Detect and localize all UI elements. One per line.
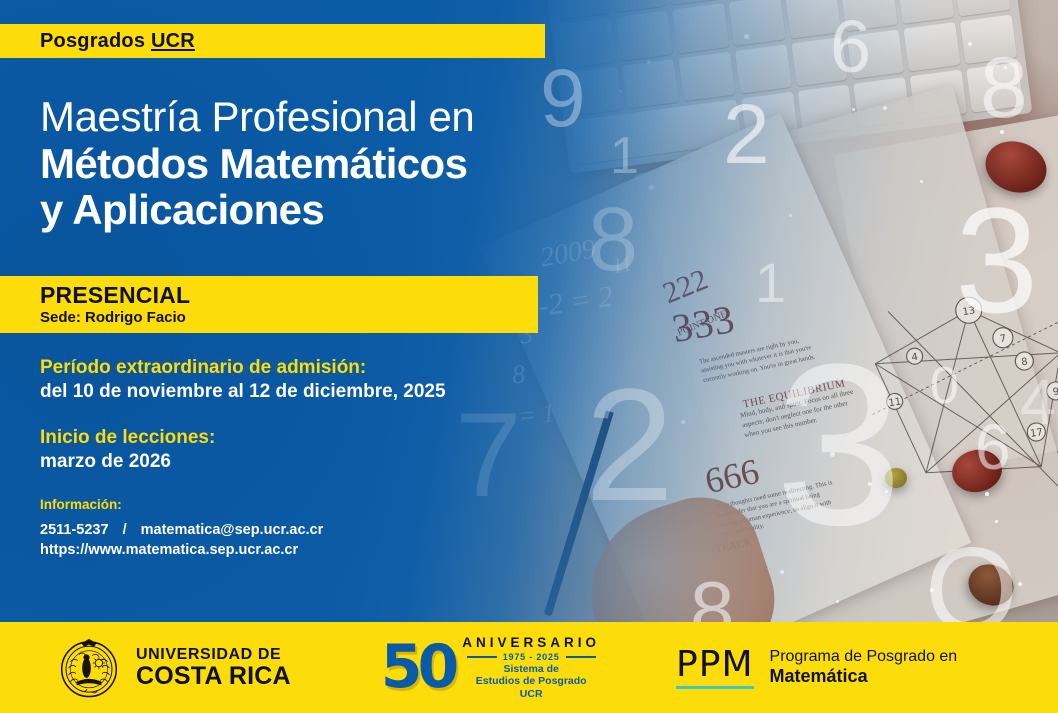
ucr-line-2: COSTA RICA bbox=[136, 664, 291, 689]
anniversary-number: 50 bbox=[381, 643, 455, 692]
sep-line-1: Sistema de bbox=[462, 663, 600, 675]
anniversary-logo: 50 ANIVERSARIO 1975 - 2025 Sistema de Es… bbox=[381, 635, 600, 700]
admission-period-label: Período extraordinario de admisión: bbox=[40, 356, 600, 380]
contact-email[interactable]: matematica@sep.ucr.ac.cr bbox=[141, 522, 324, 538]
contact-block: Información: 2511-5237 / matematica@sep.… bbox=[40, 496, 560, 561]
lessons-start-value: marzo de 2026 bbox=[40, 450, 600, 474]
ppm-acronym-group: PPM bbox=[676, 647, 753, 689]
dates-block: Período extraordinario de admisión: del … bbox=[40, 356, 600, 474]
ppm-teal-rule bbox=[676, 686, 753, 689]
ppm-line-1: Programa de Posgrado en bbox=[770, 648, 958, 666]
sep-line-3: UCR bbox=[462, 688, 600, 700]
ucr-logo: UNIVERSIDAD DE COSTA RICA bbox=[58, 637, 291, 699]
lessons-start-label: Inicio de lecciones: bbox=[40, 426, 600, 450]
modality-label: PRESENCIAL bbox=[40, 283, 538, 307]
ppm-wordmark: Programa de Posgrado en Matemática bbox=[770, 648, 958, 687]
modality-box: PRESENCIAL Sede: Rodrigo Facio bbox=[0, 276, 538, 333]
anniversary-dash-right bbox=[566, 656, 596, 658]
dates-spacer bbox=[40, 404, 600, 426]
ucr-seal-icon bbox=[58, 637, 120, 699]
title-line-2: Métodos Matemáticos bbox=[40, 141, 600, 187]
poster-content: Posgrados UCR Maestría Profesional en Mé… bbox=[0, 0, 1058, 622]
admission-period-value: del 10 de noviembre al 12 de diciembre, … bbox=[40, 380, 600, 404]
anniversary-text-group: ANIVERSARIO 1975 - 2025 Sistema de Estud… bbox=[462, 635, 600, 700]
ucr-wordmark: UNIVERSIDAD DE COSTA RICA bbox=[136, 647, 291, 689]
ppm-line-2: Matemática bbox=[770, 666, 958, 687]
contact-separator: / bbox=[113, 520, 137, 541]
ppm-acronym: PPM bbox=[676, 647, 753, 683]
ucr-word: UCR bbox=[151, 30, 195, 52]
footer-bar: UNIVERSIDAD DE COSTA RICA 50 ANIVERSARIO… bbox=[0, 622, 1058, 713]
contact-phone[interactable]: 2511-5237 bbox=[40, 522, 109, 538]
title-line-1: Maestría Profesional en bbox=[40, 96, 600, 139]
anniversary-years-row: 1975 - 2025 bbox=[462, 652, 600, 662]
program-title: Maestría Profesional en Métodos Matemáti… bbox=[40, 96, 600, 233]
title-line-3: y Aplicaciones bbox=[40, 187, 600, 233]
campus-label: Sede: Rodrigo Facio bbox=[40, 310, 538, 326]
posgrados-word: Posgrados bbox=[40, 30, 145, 52]
sep-line-2: Estudios de Posgrado bbox=[462, 675, 600, 687]
anniversary-dash-left bbox=[467, 656, 497, 658]
contact-website[interactable]: https://www.matematica.sep.ucr.ac.cr bbox=[40, 540, 560, 561]
information-label: Información: bbox=[40, 496, 560, 514]
ppm-logo: PPM Programa de Posgrado en Matemática bbox=[676, 647, 957, 689]
anniversary-word: ANIVERSARIO bbox=[462, 635, 600, 650]
ucr-line-1: UNIVERSIDAD DE bbox=[136, 647, 291, 663]
posgrados-ucr-label: Posgrados UCR bbox=[40, 30, 195, 53]
anniversary-years: 1975 - 2025 bbox=[503, 652, 560, 662]
contact-phone-email-row: 2511-5237 / matematica@sep.ucr.ac.cr bbox=[40, 520, 560, 541]
top-banner: Posgrados UCR bbox=[0, 24, 545, 58]
poster-root: 222 333 666 THE EQUILIBRIUM POINT ONE TR… bbox=[0, 0, 1058, 713]
